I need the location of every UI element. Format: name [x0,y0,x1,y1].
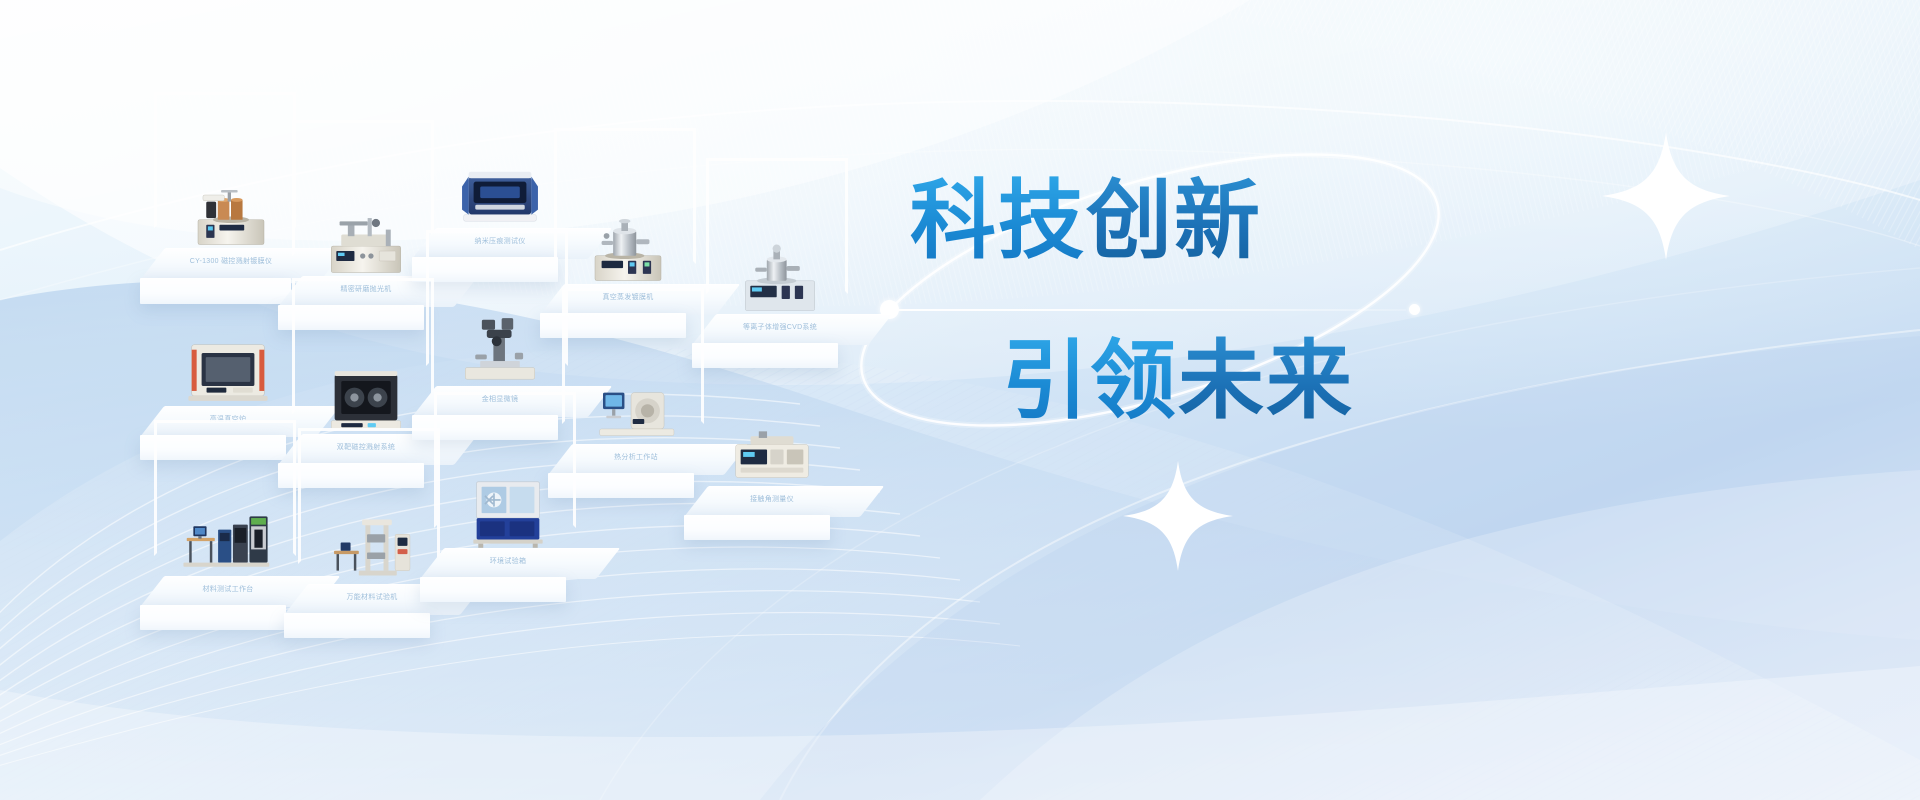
product-image-contact-angle-measuring-system: 接触角测量仪 [723,409,822,490]
product-image-universal-testing-machine: 万能材料试验机 [323,507,422,588]
product-image-high-temperature-vacuum-furnace: 高温真空炉 [179,329,278,410]
sparkle-large-icon [1596,126,1736,266]
product-image-precision-lapping-machine: 精密研磨抛光机 [317,199,416,280]
pedestal-front-face [420,577,566,602]
headline-line-1-secondary: 创新 [1086,171,1262,271]
pedestal-front-face [684,515,830,540]
product-label: 万能材料试验机 [346,592,397,602]
product-image-environmental-test-chamber: 环境试验箱 [459,471,558,552]
product-label: 材料测试工作台 [202,584,253,594]
wave-bottom-fade [0,666,1920,800]
product-tile-contact-angle-measuring-system[interactable]: 接触角测量仪 [684,330,874,540]
headline-line-2: 引领未来 [1002,338,1354,424]
product-label: 环境试验箱 [490,556,527,566]
product-image-dual-target-sputtering-system: 双靶磁控溅射系统 [317,357,416,438]
product-label: 接触角测量仪 [750,494,794,504]
product-image-plasma-enhanced-cvd-system: 等离子体增强CVD系统 [731,237,830,318]
headline-line-1: 科技创新 [910,178,1262,264]
headline-line-2-secondary: 未来 [1178,331,1354,431]
headline-block: 科技创新 引领未来 [880,150,1500,450]
product-image-metallurgical-microscope: 金相显微镜 [451,309,550,390]
headline-line-2-primary: 引领 [1002,331,1178,431]
headline-line-1-primary: 科技 [910,171,1086,271]
product-image-nano-indentation-tester: 纳米压痕测试仪 [451,151,550,232]
sparkle-small-icon [1118,456,1238,576]
product-tile-environmental-test-chamber[interactable]: 环境试验箱 [420,392,610,602]
hero-banner: 科技创新 引领未来 [0,0,1920,800]
pedestal-front-face [284,613,430,638]
pedestal-front-face [140,605,286,630]
product-image-magnetron-sputtering-coater: CY-1300 磁控溅射镀膜仪 [182,171,281,252]
product-label: 热分析工作站 [614,452,658,462]
product-image-material-testing-workbench: 材料测试工作台 [179,499,278,580]
